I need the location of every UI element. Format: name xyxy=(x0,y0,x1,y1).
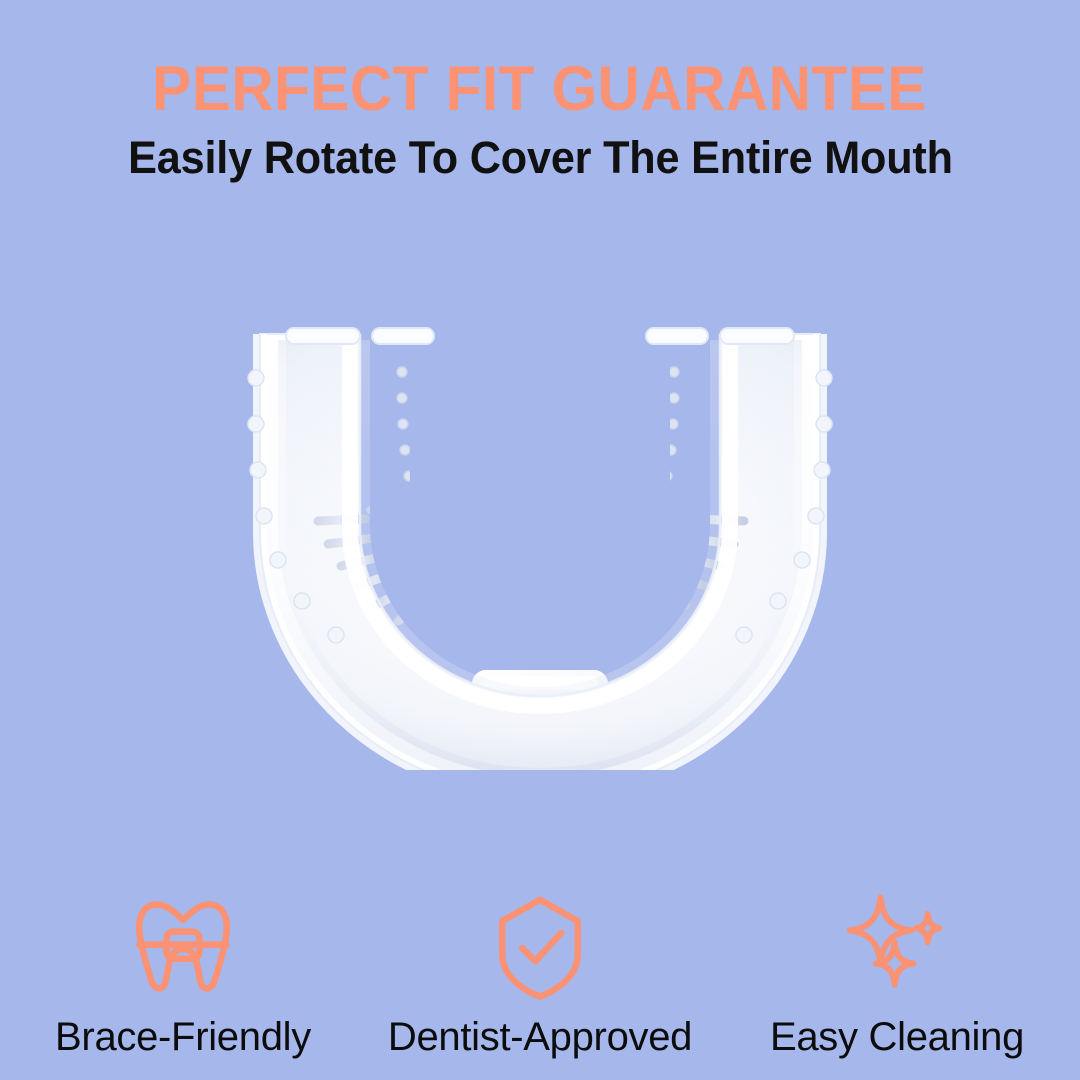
feature-dentist-approved: Dentist-Approved xyxy=(375,888,705,1058)
feature-label-dentist-approved: Dentist-Approved xyxy=(388,1016,692,1058)
feature-row: Brace-Friendly Dentist-Approved xyxy=(0,888,1080,1058)
product-marketing-poster: PERFECT FIT GUARANTEE Easily Rotate To C… xyxy=(0,0,1080,1080)
shield-check-icon xyxy=(481,888,599,1006)
feature-label-brace-friendly: Brace-Friendly xyxy=(55,1016,311,1058)
product-image xyxy=(190,320,890,770)
product-u-body xyxy=(190,320,890,770)
subheadline-container: Easily Rotate To Cover The Entire Mouth xyxy=(0,133,1080,183)
page-title: PERFECT FIT GUARANTEE xyxy=(153,58,928,121)
feature-easy-cleaning: Easy Cleaning xyxy=(732,888,1062,1058)
headline-container: PERFECT FIT GUARANTEE xyxy=(0,58,1080,121)
page-subtitle: Easily Rotate To Cover The Entire Mouth xyxy=(128,133,953,183)
sparkles-icon xyxy=(838,888,956,1006)
feature-brace-friendly: Brace-Friendly xyxy=(18,888,348,1058)
bristle-dots xyxy=(397,367,679,601)
feature-label-easy-cleaning: Easy Cleaning xyxy=(770,1016,1024,1058)
tooth-braces-icon xyxy=(124,888,242,1006)
